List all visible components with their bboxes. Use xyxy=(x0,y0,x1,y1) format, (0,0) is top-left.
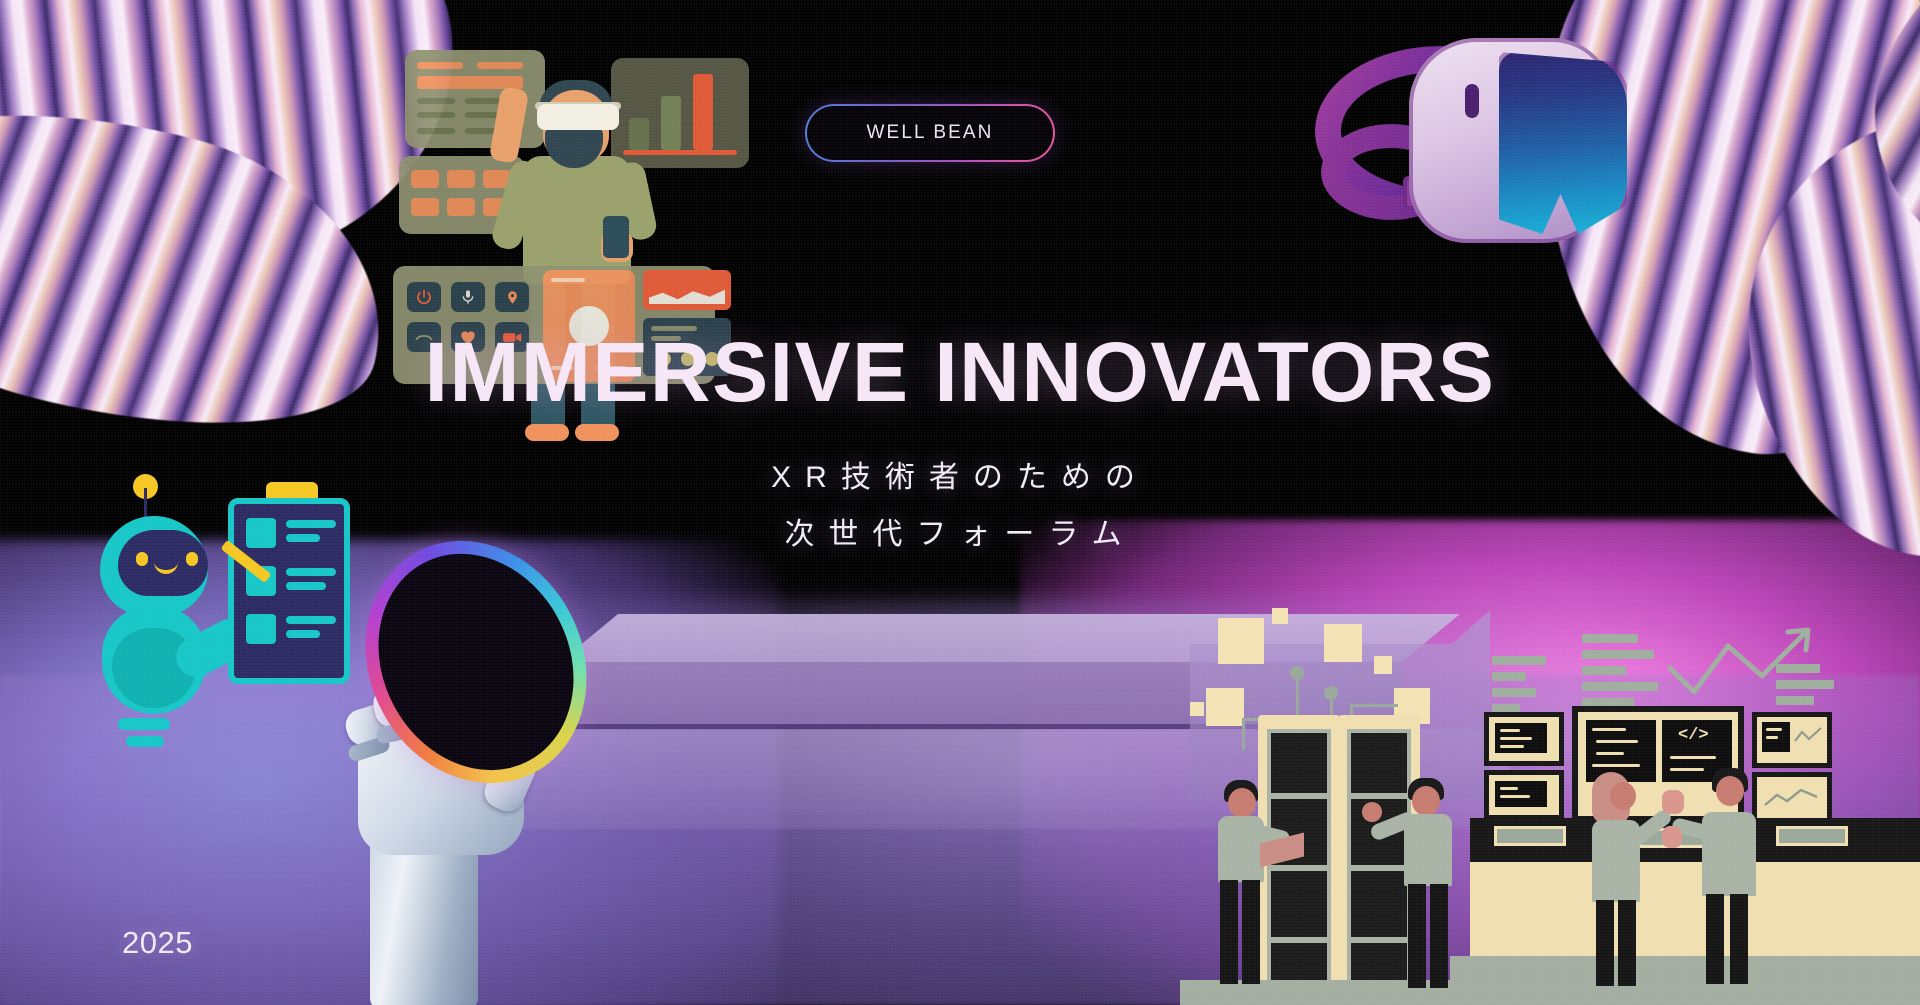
trend-arrow-icon xyxy=(1666,626,1826,696)
shoe-right xyxy=(575,424,619,441)
connector-node-2 xyxy=(1324,686,1338,700)
bar-chart-panel xyxy=(611,58,749,168)
floating-square-5 xyxy=(1206,688,1244,726)
clipboard-line-5 xyxy=(286,616,336,624)
robot-hover-trail-1 xyxy=(118,718,170,730)
shoe-left xyxy=(525,424,569,441)
clipboard xyxy=(228,498,350,684)
year-label: 2025 xyxy=(122,925,193,961)
clipboard-check-1 xyxy=(246,518,276,548)
robot-eye-right xyxy=(186,552,198,566)
clipboard-line-2 xyxy=(286,534,320,542)
office-person-left xyxy=(1588,768,1660,964)
connector-1 xyxy=(1242,720,1245,750)
desk-front xyxy=(1470,862,1920,966)
badge-label: WELL BEAN xyxy=(867,122,994,144)
power-icon xyxy=(407,282,441,312)
office-floor xyxy=(1450,956,1920,1005)
robot-antenna xyxy=(144,488,147,520)
monitor-top-left xyxy=(1484,712,1564,766)
floating-square-2 xyxy=(1272,608,1288,624)
vr-goggle-icon xyxy=(537,104,619,130)
clipboard-line-4 xyxy=(286,582,326,590)
monitor-bottom-left xyxy=(1484,770,1564,820)
well-bean-badge[interactable]: WELL BEAN xyxy=(805,104,1055,162)
clipboard-line-6 xyxy=(286,630,320,638)
office-monitors-illustration: </> xyxy=(1470,600,1920,1005)
floating-square-6 xyxy=(1190,702,1204,716)
office-person-right xyxy=(1698,764,1778,964)
vr-person-illustration xyxy=(415,28,745,488)
connector-7 xyxy=(1350,704,1398,707)
clipboard-check-3 xyxy=(246,614,276,644)
floating-square-3 xyxy=(1324,624,1362,662)
location-pin-icon xyxy=(495,282,529,312)
page-title: IMMERSIVE INNOVATORS xyxy=(0,330,1920,414)
technician-left xyxy=(1210,780,1282,990)
keyboard-left xyxy=(1494,826,1566,846)
poster-canvas: WELL BEAN IMMERSIVE INNOVATORS XR技術者のための… xyxy=(0,0,1920,1005)
badge-inner: WELL BEAN xyxy=(807,106,1053,160)
chrome-ribbon-right-edge xyxy=(1829,0,1920,314)
floating-square-1 xyxy=(1218,618,1264,664)
clipboard-line-3 xyxy=(286,568,336,576)
robot-hover-trail-2 xyxy=(126,736,164,747)
handheld-device xyxy=(603,216,629,258)
robot-clipboard-illustration xyxy=(78,478,358,768)
keyboard-right xyxy=(1776,826,1848,846)
vr-headset-illustration xyxy=(1315,28,1645,268)
clipboard-line-1 xyxy=(286,520,336,528)
headset-button xyxy=(1465,84,1479,118)
connector-node-1 xyxy=(1290,666,1304,680)
robot-eye-left xyxy=(136,552,148,566)
floating-square-4 xyxy=(1374,656,1392,674)
robotic-hand-ring-illustration xyxy=(350,575,650,1005)
line-graph-panel xyxy=(643,270,731,310)
monitor-top-right xyxy=(1752,712,1832,768)
microphone-icon xyxy=(451,282,485,312)
